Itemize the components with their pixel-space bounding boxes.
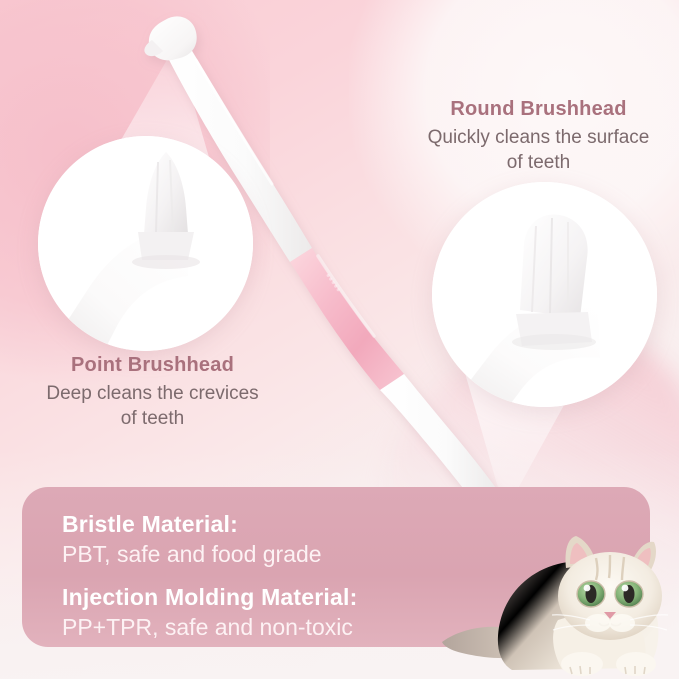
callout-title-round: Round Brushhead [398, 96, 679, 122]
callout-subtitle-point-line2: of teeth [0, 406, 305, 431]
callout-subtitle-round-line1: Quickly cleans the surface [398, 125, 679, 150]
callout-title-point: Point Brushhead [0, 352, 305, 378]
magnifier-round-brushhead [432, 182, 657, 407]
round-brushhead-closeup [432, 182, 657, 407]
callout-subtitle-point-line1: Deep cleans the crevices [0, 381, 305, 406]
callout-subtitle-round-line2: of teeth [398, 150, 679, 175]
magnifier-point-brushhead [38, 136, 253, 351]
cat-photo [440, 524, 679, 679]
callout-round-brushhead: Round Brushhead Quickly cleans the surfa… [398, 96, 679, 175]
point-brushhead-closeup [38, 136, 253, 351]
callout-point-brushhead: Point Brushhead Deep cleans the crevices… [0, 352, 305, 431]
infographic-canvas: ••••• [0, 0, 679, 679]
